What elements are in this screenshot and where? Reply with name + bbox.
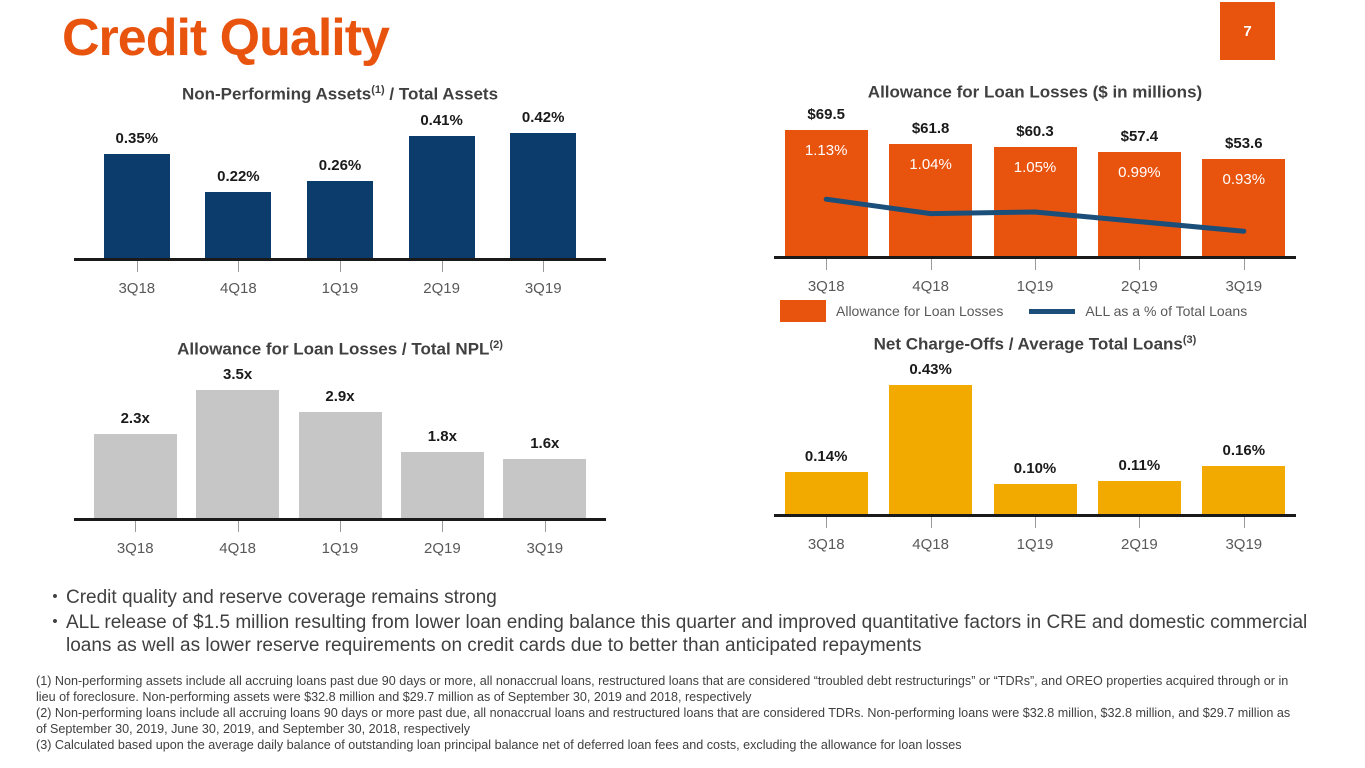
- axis-tick: [442, 521, 443, 532]
- bar-4Q18: [196, 390, 279, 518]
- bar-value-label: 0.14%: [805, 448, 848, 465]
- axis-tick: [1035, 517, 1036, 528]
- axis-tick: [442, 261, 443, 272]
- category-label: 1Q19: [322, 280, 359, 297]
- axis-tick: [137, 261, 138, 272]
- axis-tick: [545, 521, 546, 532]
- legend-label: ALL as a % of Total Loans: [1085, 303, 1247, 319]
- bar-2Q19: [409, 136, 475, 258]
- category-label: 3Q19: [1225, 536, 1262, 553]
- chart-title: Allowance for Loan Losses / Total NPL(2): [60, 339, 620, 360]
- category-label: 4Q18: [219, 540, 256, 557]
- bar-value-label: 0.42%: [522, 109, 565, 126]
- bullet-dot-icon: •: [44, 586, 66, 608]
- bar-value-label: 1.6x: [530, 435, 559, 452]
- bar-3Q19: [510, 133, 576, 258]
- bar-3Q19: [503, 459, 586, 518]
- bar-2Q19: [401, 452, 484, 518]
- bullet-text: Credit quality and reserve coverage rema…: [66, 586, 1314, 609]
- axis-tick: [135, 521, 136, 532]
- chart-allowance-loan-losses: Allowance for Loan Losses ($ in millions…: [760, 82, 1310, 304]
- category-label: 1Q19: [1017, 536, 1054, 553]
- footnote: (1) Non-performing assets include all ac…: [36, 674, 1301, 706]
- bar-3Q18: [785, 472, 868, 514]
- chart-title: Allowance for Loan Losses ($ in millions…: [760, 82, 1310, 103]
- slide: Credit Quality 7 Non-Performing Assets(1…: [0, 0, 1365, 768]
- line-value-label: 1.13%: [805, 142, 848, 159]
- legend-line-icon: [1029, 309, 1075, 314]
- axis-tick: [1244, 517, 1245, 528]
- bullet-text: ALL release of $1.5 million resulting fr…: [66, 611, 1314, 657]
- category-label: 3Q18: [808, 536, 845, 553]
- chart-npa-total-assets: Non-Performing Assets(1) / Total Assets …: [60, 84, 620, 304]
- category-label: 2Q19: [424, 540, 461, 557]
- bar-1Q19: [299, 412, 382, 518]
- axis-tick: [340, 521, 341, 532]
- line-value-label: 1.04%: [909, 156, 952, 173]
- bar-2Q19: [1098, 481, 1181, 514]
- bar-value-label: 2.3x: [121, 410, 150, 427]
- category-label: 4Q18: [912, 536, 949, 553]
- category-label: 2Q19: [1121, 536, 1158, 553]
- list-item: • Credit quality and reserve coverage re…: [44, 586, 1314, 609]
- axis-tick: [340, 261, 341, 272]
- legend-item-allowance: Allowance for Loan Losses: [780, 300, 1003, 322]
- axis-tick: [238, 521, 239, 532]
- chart-title: Non-Performing Assets(1) / Total Assets: [60, 84, 620, 105]
- footnote-list: (1) Non-performing assets include all ac…: [36, 674, 1301, 754]
- axis-tick: [543, 261, 544, 272]
- axis-tick: [1139, 517, 1140, 528]
- bar-value-label: 0.43%: [909, 361, 952, 378]
- chart-net-charge-offs: Net Charge-Offs / Average Total Loans(3)…: [760, 334, 1310, 560]
- bar-value-label: 0.10%: [1014, 460, 1057, 477]
- legend-label: Allowance for Loan Losses: [836, 303, 1003, 319]
- category-label: 3Q19: [525, 280, 562, 297]
- line-value-label: 0.99%: [1118, 164, 1161, 181]
- bar-1Q19: [994, 484, 1077, 514]
- bullet-list: • Credit quality and reserve coverage re…: [44, 586, 1314, 660]
- line-series: [760, 110, 1310, 304]
- bullet-dot-icon: •: [44, 611, 66, 633]
- plot-area: 0.14%3Q180.43%4Q180.10%1Q190.11%2Q190.16…: [760, 362, 1310, 560]
- legend-item-all-percent: ALL as a % of Total Loans: [1003, 303, 1247, 319]
- bar-3Q18: [104, 154, 170, 258]
- legend-swatch-icon: [780, 300, 826, 322]
- plot-area: 0.35%3Q180.22%4Q180.26%1Q190.41%2Q190.42…: [60, 110, 620, 304]
- axis-tick: [931, 517, 932, 528]
- bar-4Q18: [205, 192, 271, 258]
- bar-3Q18: [94, 434, 177, 518]
- list-item: • ALL release of $1.5 million resulting …: [44, 611, 1314, 657]
- category-label: 3Q19: [526, 540, 563, 557]
- line-value-label: 0.93%: [1223, 171, 1266, 188]
- line-value-label: 1.05%: [1014, 159, 1057, 176]
- bar-value-label: 0.11%: [1119, 457, 1161, 474]
- category-label: 4Q18: [220, 280, 257, 297]
- bar-value-label: 3.5x: [223, 366, 252, 383]
- page-number-badge: 7: [1220, 2, 1275, 60]
- category-label: 3Q18: [117, 540, 154, 557]
- category-label: 1Q19: [322, 540, 359, 557]
- bar-value-label: 1.8x: [428, 428, 457, 445]
- bar-value-label: 0.41%: [420, 112, 463, 129]
- plot-area: $69.53Q18$61.84Q18$60.31Q19$57.42Q19$53.…: [760, 110, 1310, 304]
- axis-tick: [238, 261, 239, 272]
- bar-value-label: 2.9x: [325, 388, 354, 405]
- bar-value-label: 0.16%: [1223, 442, 1266, 459]
- footnote: (2) Non-performing loans include all acc…: [36, 706, 1301, 738]
- chart-legend: Allowance for Loan Losses ALL as a % of …: [780, 300, 1305, 322]
- bar-value-label: 0.22%: [217, 168, 260, 185]
- bar-value-label: 0.26%: [319, 157, 362, 174]
- category-label: 3Q18: [118, 280, 155, 297]
- footnote: (3) Calculated based upon the average da…: [36, 738, 1301, 754]
- plot-area: 2.3x3Q183.5x4Q182.9x1Q191.8x2Q191.6x3Q19: [60, 367, 620, 561]
- chart-title: Net Charge-Offs / Average Total Loans(3): [760, 334, 1310, 355]
- bar-value-label: 0.35%: [116, 130, 159, 147]
- axis-tick: [826, 517, 827, 528]
- page-title: Credit Quality: [62, 10, 389, 67]
- bar-3Q19: [1202, 466, 1285, 514]
- bar-4Q18: [889, 385, 972, 514]
- bar-1Q19: [307, 181, 373, 258]
- category-label: 2Q19: [423, 280, 460, 297]
- chart-all-total-npl: Allowance for Loan Losses / Total NPL(2)…: [60, 339, 620, 561]
